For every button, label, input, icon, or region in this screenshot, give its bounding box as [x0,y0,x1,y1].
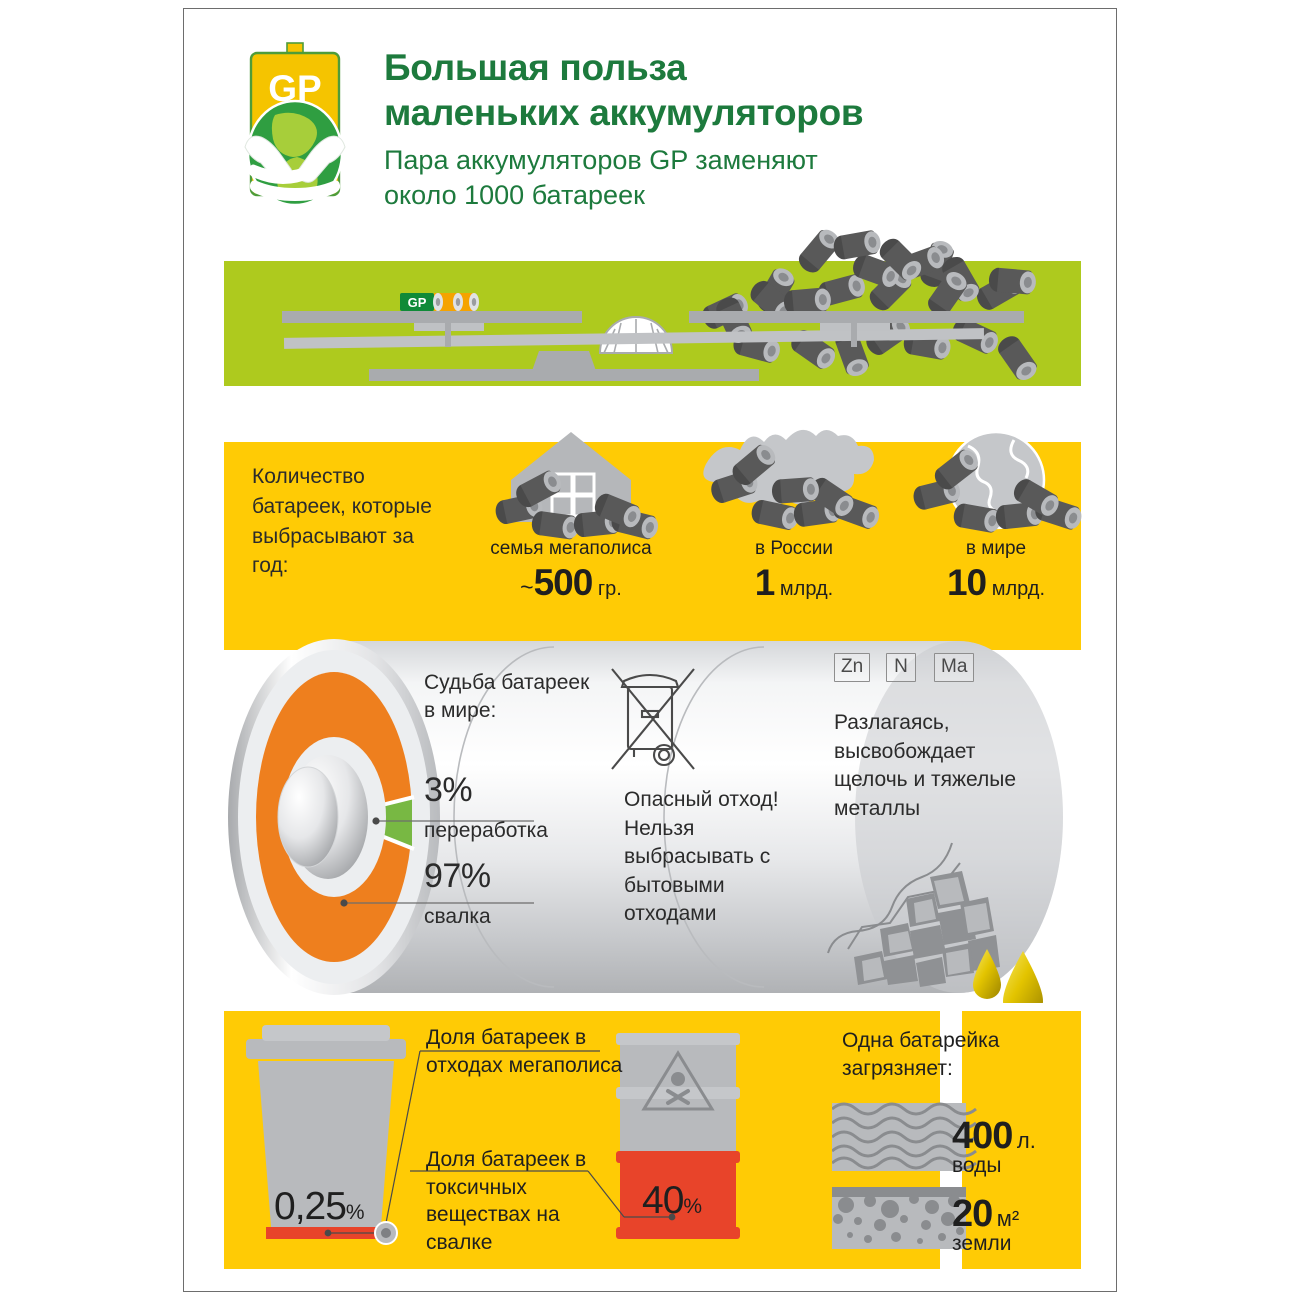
count-column-world: в мире 10 млрд. [896,422,1096,604]
count-unit-russia: млрд. [780,578,833,600]
water-value: 400 [952,1115,1012,1157]
waste-share-unit: % [346,1201,364,1224]
decomposition-text: Разлагаясь, высвобождает щелочь и тяжелы… [834,709,1024,823]
count-number-russia: 1 [755,562,775,603]
russia-map-batteries-icon [694,422,894,534]
pollution-stat-land: 20 м² земли [952,1193,1019,1256]
recycle-percent: 3% [424,771,472,810]
waste-share-value: 0,25% [274,1185,364,1229]
waste-share-number: 0,25 [274,1185,346,1228]
count-unit-world: млрд. [992,578,1045,600]
toxic-share-unit: % [683,1195,701,1218]
toxic-share-value: 40% [642,1179,701,1223]
title-line-2: маленьких аккумуляторов [384,90,1084,135]
hazardous-waste-text: Опасный отход! Нельзя выбрасывать с быто… [624,786,804,929]
fate-heading: Судьба батареек в мире: [424,669,604,725]
note-toxic-share: Доля батареек в токсичных веществах на с… [426,1146,626,1257]
balance-scale-panel: GP [224,261,1081,386]
landfill-label: свалка [424,905,491,929]
count-value-world: 10 млрд. [896,562,1096,604]
gp-battery-pair-icon: GP [400,293,479,311]
pollution-stat-water: 400 л. воды [952,1115,1036,1178]
element-badge-n: N [886,653,916,682]
count-value-russia: 1 млрд. [694,562,894,604]
element-badge-zn: Zn [834,653,870,682]
count-unit-family: гр. [598,578,622,600]
recycle-label: переработка [424,819,548,843]
land-value: 20 [952,1193,992,1235]
house-batteries-icon [456,422,686,534]
svg-text:GP: GP [408,295,427,310]
water-sub: воды [952,1154,1036,1178]
count-column-russia: в России 1 млрд. [694,422,894,604]
count-value-family: ~500 гр. [456,562,686,604]
subtitle-line-2: около 1000 батареек [384,178,1084,213]
land-sub: земли [952,1232,1019,1256]
balance-scale-illustration: GP [224,211,1081,386]
soil-ground-icon [832,1187,966,1249]
toxic-share-number: 40 [642,1179,683,1222]
count-number-world: 10 [947,562,986,603]
header: GP Большая польза маленьких аккумуляторо… [184,9,1117,241]
water-unit: л. [1017,1128,1036,1153]
landfill-percent: 97% [424,857,491,896]
count-prefix-family: ~ [520,574,533,600]
pollution-panel: Одна батарейка загрязняет: [962,1011,1081,1269]
title-block: Большая польза маленьких аккумуляторов П… [384,45,1084,213]
element-badge-ma: Ma [934,653,974,682]
count-number-family: 500 [534,562,593,603]
title-line-1: Большая польза [384,45,1084,90]
count-column-family: семья мегаполиса ~500 гр. [456,422,686,604]
gp-logo: GP [239,41,351,219]
annual-discard-panel: Количество батареек, которые выбрасывают… [224,442,1081,650]
globe-batteries-icon [896,422,1096,534]
subtitle-line-1: Пара аккумуляторов GP заменяют [384,143,1084,178]
land-unit: м² [997,1206,1019,1231]
battery-pile-icon [699,225,1041,384]
note-waste-share: Доля батареек в отходах мегаполиса [426,1024,626,1079]
battery-cylinder-section: Судьба батареек в мире: 3% переработка 9… [224,631,1081,1003]
infographic-page: GP Большая польза маленьких аккумуляторо… [183,8,1117,1292]
count-panel-label: Количество батареек, которые выбрасывают… [252,462,432,581]
